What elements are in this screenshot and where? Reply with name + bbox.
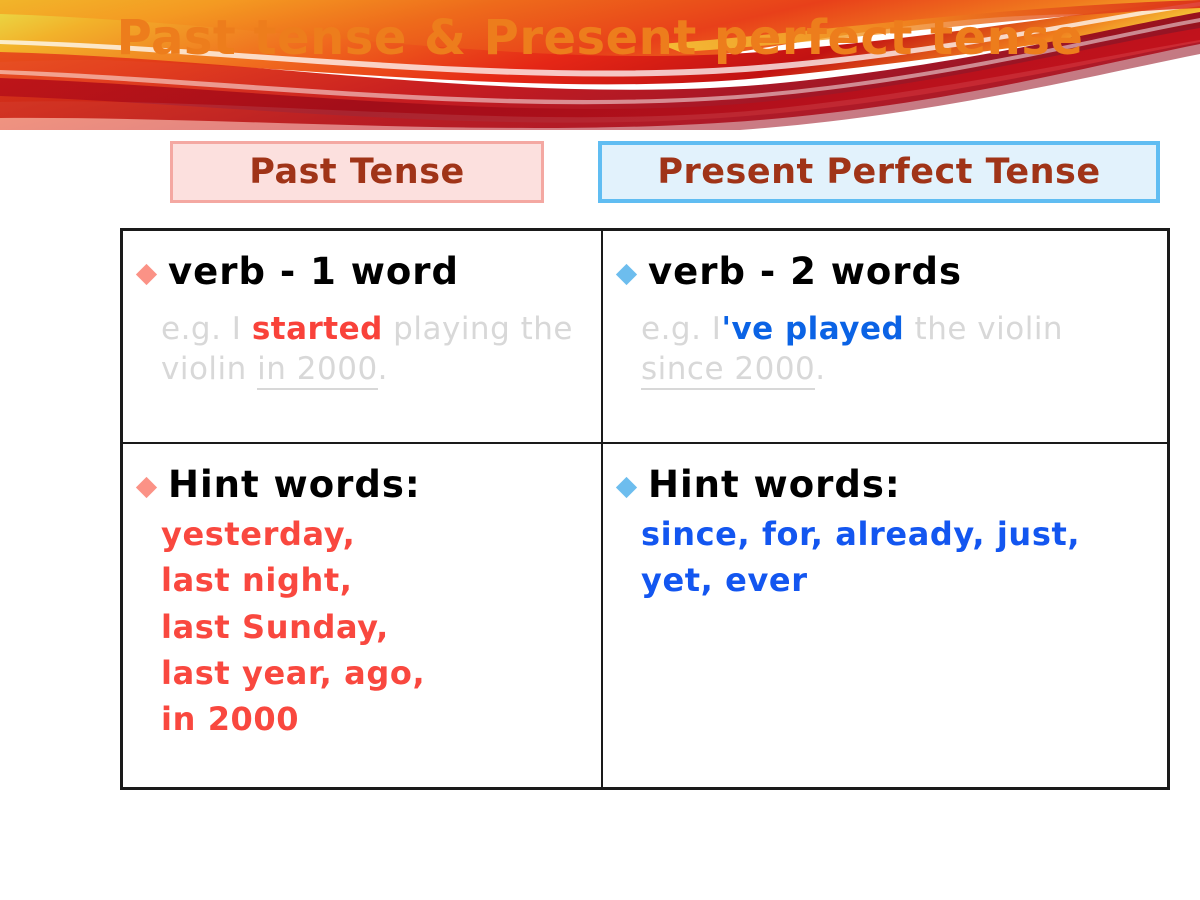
past-hint-word-list: yesterday, last night, last Sunday, last… [161,511,587,743]
column-header-present-perfect-tense: Present Perfect Tense [598,141,1160,203]
diamond-bullet-icon [136,477,157,498]
present-perfect-rule-label: verb - 2 words [648,253,962,292]
column-header-past-tense-label: Past Tense [249,152,465,192]
column-header-present-perfect-tense-label: Present Perfect Tense [657,152,1100,192]
list-item: last year, ago, [161,650,587,696]
diamond-bullet-icon [136,264,157,285]
present-perfect-example-tail: . [815,351,825,387]
list-item: in 2000 [161,696,587,742]
list-item: yesterday, [161,511,587,557]
column-header-past-tense: Past Tense [170,141,544,203]
list-item: since, for, already, just, [641,511,1156,557]
list-item: yet, ever [641,557,1156,603]
past-rule-label: verb - 1 word [168,253,459,292]
list-item: last night, [161,557,587,603]
comparison-table: verb - 1 word e.g. I started playing the… [120,228,1170,790]
past-example-sentence: e.g. I started playing the violin in 200… [161,310,587,389]
diamond-bullet-icon [616,477,637,498]
present-perfect-example-lead: e.g. I [641,311,721,347]
present-perfect-example-time-expression: since 2000 [641,351,815,390]
list-item: last Sunday, [161,604,587,650]
present-perfect-example-sentence: e.g. I've played the violin since 2000. [641,310,1156,389]
past-example-tail: . [378,351,388,387]
past-example-highlight: started [252,311,383,347]
past-example-lead: e.g. I [161,311,252,347]
table-cell-past-rule: verb - 1 word e.g. I started playing the… [123,231,603,444]
past-rule-bullet-line: verb - 1 word [139,253,587,292]
present-perfect-hint-label: Hint words: [648,466,901,505]
table-cell-present-perfect-hints: Hint words: since, for, already, just, y… [603,444,1170,787]
page-title: Past tense & Present perfect tense [0,10,1200,66]
table-cell-past-hints: Hint words: yesterday, last night, last … [123,444,603,787]
present-perfect-example-highlight: 've played [721,311,904,347]
present-perfect-hint-bullet-line: Hint words: [619,466,1156,505]
present-perfect-example-middle: the violin [904,311,1063,347]
table-cell-present-perfect-rule: verb - 2 words e.g. I've played the viol… [603,231,1170,444]
past-hint-label: Hint words: [168,466,421,505]
past-hint-bullet-line: Hint words: [139,466,587,505]
past-example-time-expression: in 2000 [257,351,378,390]
present-perfect-hint-word-list: since, for, already, just, yet, ever [641,511,1156,604]
present-perfect-rule-bullet-line: verb - 2 words [619,253,1156,292]
diamond-bullet-icon [616,264,637,285]
